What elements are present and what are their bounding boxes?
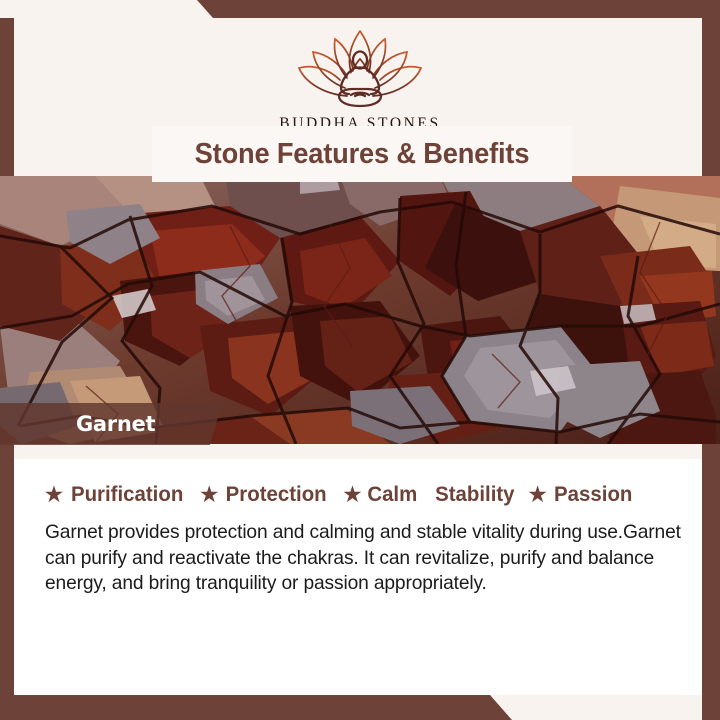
- star-icon: ★: [529, 485, 547, 505]
- bottom-accent-bar: [0, 695, 720, 720]
- benefit-passion: ★ Passion: [529, 482, 634, 507]
- benefit-protection: ★ Protection: [200, 482, 329, 507]
- page-title: Stone Features & Benefits: [195, 138, 530, 171]
- brand-logo: BUDDHA STONES: [0, 26, 720, 133]
- stone-name-label: Garnet: [0, 403, 222, 445]
- star-icon: ★: [200, 485, 218, 505]
- panel-top-strip: [14, 444, 702, 459]
- benefits-row: ★ Purification ★ Protection ★ Calm Stabi…: [45, 482, 685, 507]
- benefit-label: Stability: [435, 482, 514, 507]
- lotus-meditation-icon: [285, 26, 435, 108]
- benefit-calm: ★ Calm: [343, 482, 419, 507]
- content-panel: ★ Purification ★ Protection ★ Calm Stabi…: [14, 444, 702, 695]
- star-icon: ★: [343, 485, 361, 505]
- benefit-stability: Stability: [433, 482, 517, 507]
- benefit-label: Protection: [226, 482, 327, 507]
- promo-card: BUDDHA STONES Stone Features & Benefits: [0, 0, 720, 720]
- benefit-label: Calm: [368, 482, 418, 507]
- title-banner: Stone Features & Benefits: [152, 126, 572, 182]
- benefit-label: Passion: [554, 482, 632, 507]
- stone-name-text: Garnet: [76, 412, 155, 436]
- stone-description: Garnet provides protection and calming a…: [45, 520, 681, 597]
- benefit-label: Purification: [71, 482, 183, 507]
- star-icon: ★: [45, 485, 63, 505]
- top-accent-bar: [0, 0, 720, 18]
- benefit-purification: ★ Purification: [45, 482, 186, 507]
